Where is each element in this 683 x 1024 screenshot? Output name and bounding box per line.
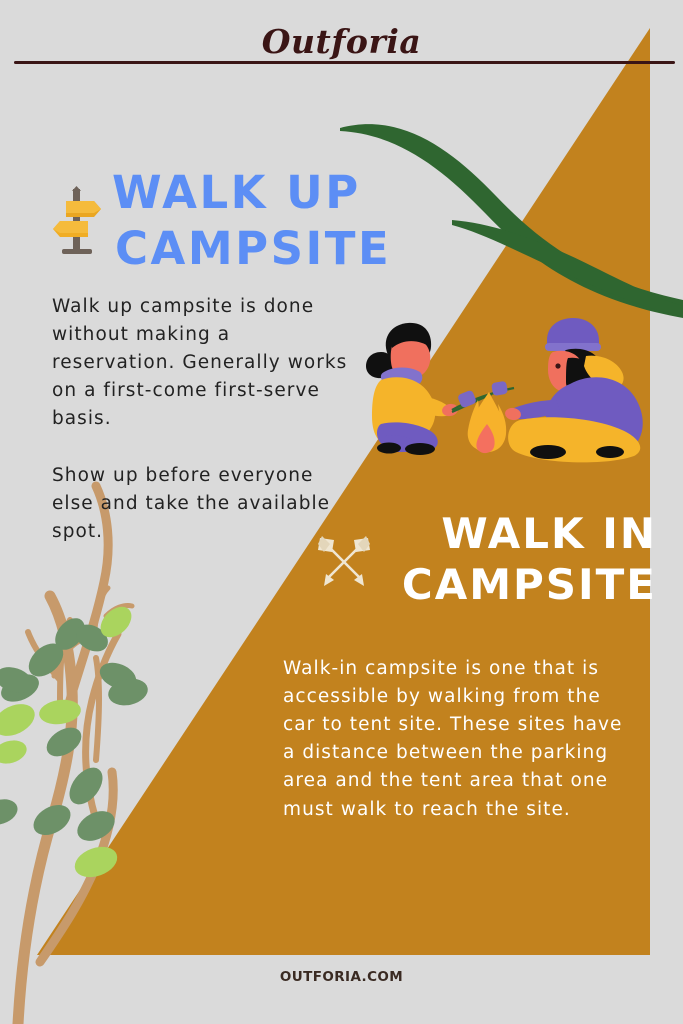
- crossed-arrows-icon: [312, 532, 376, 590]
- brand-logo: Outforia: [0, 22, 683, 63]
- infographic-poster: Outforia WALK UP CAMPSITE Walk up campsi…: [0, 0, 683, 1024]
- signpost-icon: [50, 183, 104, 261]
- footer-website-text: OUTFORIA.COM: [280, 969, 403, 985]
- walk-up-title-line2: CAMPSITE: [112, 221, 406, 277]
- walk-in-body: Walk-in campsite is one that is accessib…: [283, 655, 635, 824]
- campfire-icon: [468, 392, 506, 453]
- walk-up-paragraph-2: Show up before everyone else and take th…: [52, 462, 352, 546]
- walk-up-body: Walk up campsite is done without making …: [52, 293, 352, 546]
- walk-in-paragraph-1: Walk-in campsite is one that is accessib…: [283, 655, 635, 824]
- camper-right: [504, 318, 643, 462]
- logo-wordmark: Outforia: [262, 22, 422, 63]
- walk-in-heading-group: WALK IN CAMPSITE: [312, 508, 657, 610]
- walk-in-title-line2: CAMPSITE: [388, 559, 657, 610]
- walk-in-title-line1: WALK IN: [441, 509, 657, 558]
- walk-up-title-line1: WALK UP: [112, 166, 361, 219]
- walk-up-paragraph-1: Walk up campsite is done without making …: [52, 293, 352, 434]
- marshmallow-sticks: [452, 381, 514, 412]
- walk-up-heading-group: WALK UP CAMPSITE: [46, 165, 406, 277]
- footer: OUTFORIA.COM: [0, 968, 683, 986]
- leafy-branch-icon: [0, 486, 150, 1024]
- camper-left: [366, 323, 459, 455]
- logo-underline-decoration: [14, 61, 675, 64]
